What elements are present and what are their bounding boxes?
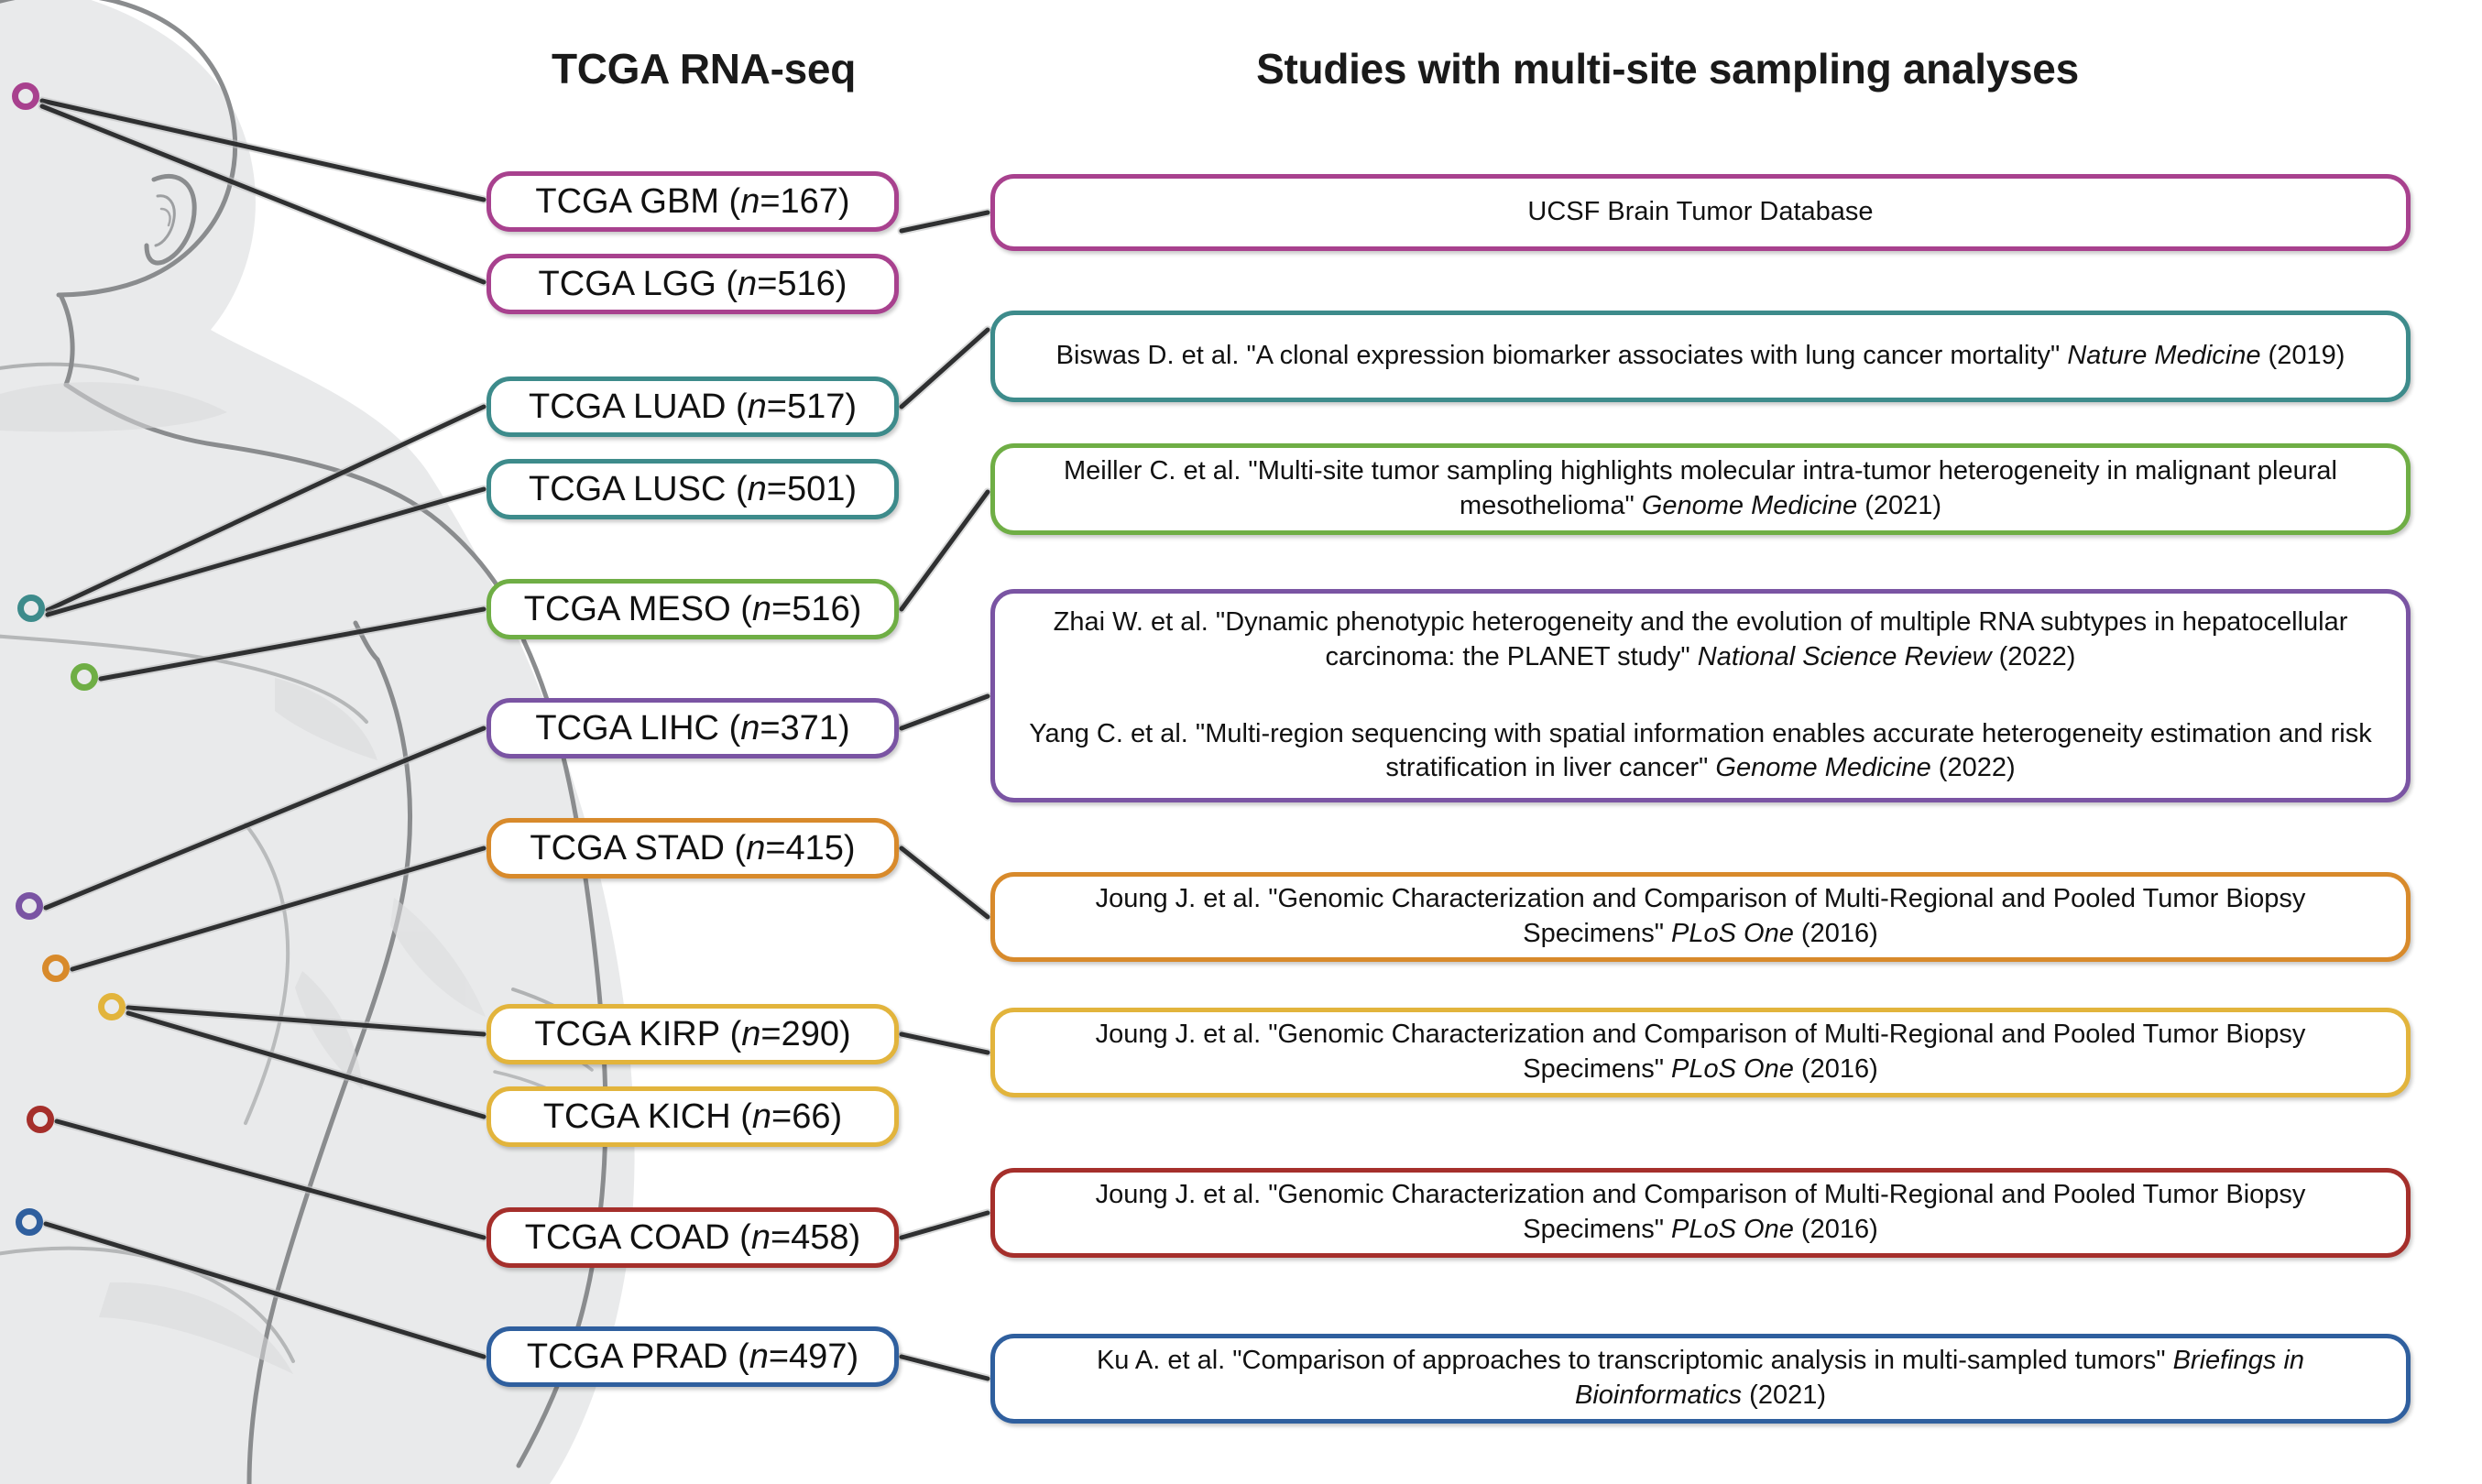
prostate-site-marker — [16, 1208, 43, 1236]
study-box-joung-stad[interactable]: Joung J. et al. "Genomic Characterizatio… — [990, 872, 2411, 962]
tcga-cohort-sample-count: (n=66) — [740, 1097, 842, 1137]
brain-site-marker — [12, 82, 39, 110]
study-citation: Yang C. et al. "Multi-region sequencing … — [1022, 717, 2378, 786]
tcga-cohort-label: TCGA GBM — [535, 182, 719, 222]
study-year: (2021) — [1857, 491, 1941, 520]
connector-line-halo — [46, 728, 484, 908]
connector-line-liver-to-lihc — [46, 728, 484, 908]
connector-line-halo — [46, 1224, 484, 1357]
tcga-cohort-box-luad[interactable]: TCGA LUAD (n=517) — [487, 376, 899, 437]
study-box-biswas-lung[interactable]: Biswas D. et al. "A clonal expression bi… — [990, 311, 2411, 402]
tcga-cohort-label: TCGA LUSC — [529, 470, 726, 509]
study-journal-name: Genome Medicine — [1715, 753, 1930, 782]
connector-line-brain-to-lgg — [42, 106, 484, 282]
tcga-cohort-box-kich[interactable]: TCGA KICH (n=66) — [487, 1086, 899, 1147]
tcga-cohort-label: TCGA LUAD — [529, 387, 726, 427]
study-box-lihc-studies[interactable]: Zhai W. et al. "Dynamic phenotypic heter… — [990, 589, 2411, 802]
connector-line-halo — [128, 1008, 484, 1034]
connector-line-meso-to-meiller — [902, 492, 988, 609]
connector-line-halo — [48, 407, 484, 610]
connector-line-halo — [902, 848, 988, 917]
tcga-cohort-box-coad[interactable]: TCGA COAD (n=458) — [487, 1207, 899, 1268]
connector-line-lung-to-luad — [48, 407, 484, 610]
tcga-cohort-sample-count: (n=516) — [726, 265, 847, 304]
connector-line-halo — [128, 1013, 484, 1117]
study-citation-text: Yang C. et al. "Multi-region sequencing … — [1029, 719, 2371, 783]
connector-line-gbm-to-ucsf — [902, 213, 988, 231]
study-year: (2016) — [1794, 1054, 1878, 1084]
connector-line-halo — [902, 1357, 988, 1379]
connector-line-kidney-to-kich — [128, 1013, 484, 1117]
study-year: (2019) — [2260, 341, 2345, 370]
study-citation: UCSF Brain Tumor Database — [1527, 195, 1873, 230]
connector-line-lung-to-lusc — [48, 489, 484, 615]
connector-line-prostate-to-prad — [46, 1224, 484, 1357]
connector-line-stomach-to-stad — [72, 848, 484, 969]
study-box-meiller-meso[interactable]: Meiller C. et al. "Multi-site tumor samp… — [990, 443, 2411, 535]
study-citation: Zhai W. et al. "Dynamic phenotypic heter… — [1022, 606, 2378, 674]
connector-line-halo — [902, 213, 988, 231]
tcga-cohort-label: TCGA PRAD — [527, 1337, 728, 1377]
tcga-cohort-sample-count: (n=371) — [729, 709, 850, 748]
pleura-site-marker — [71, 663, 98, 691]
connector-line-halo — [902, 1034, 988, 1053]
tcga-cohort-label: TCGA MESO — [524, 590, 731, 629]
study-citation: Joung J. et al. "Genomic Characterizatio… — [1022, 882, 2378, 951]
tcga-cohort-sample-count: (n=516) — [740, 590, 861, 629]
connector-line-halo — [902, 492, 988, 609]
page-title-tcga-rnaseq: TCGA RNA-seq — [497, 44, 910, 93]
connector-line-halo — [902, 330, 988, 407]
tcga-cohort-sample-count: (n=415) — [735, 829, 856, 868]
study-year: (2022) — [1992, 642, 2076, 671]
tcga-cohort-label: TCGA LGG — [539, 265, 716, 304]
connector-line-brain-to-gbm — [42, 101, 484, 200]
colon-site-marker — [27, 1106, 54, 1133]
study-journal-name: PLoS One — [1671, 919, 1794, 948]
tcga-cohort-sample-count: (n=458) — [739, 1218, 860, 1258]
page-title-studies: Studies with multi-site sampling analyse… — [1196, 44, 2139, 93]
tcga-cohort-box-lusc[interactable]: TCGA LUSC (n=501) — [487, 459, 899, 519]
connector-line-halo — [902, 696, 988, 728]
study-year: (2021) — [1742, 1380, 1826, 1410]
tcga-cohort-label: TCGA LIHC — [535, 709, 719, 748]
tcga-cohort-label: TCGA KICH — [543, 1097, 731, 1137]
study-citation: Ku A. et al. "Comparison of approaches t… — [1022, 1344, 2378, 1413]
connector-line-coad-to-joung — [902, 1213, 988, 1238]
tcga-cohort-label: TCGA COAD — [525, 1218, 730, 1258]
study-citation-text: Biswas D. et al. "A clonal expression bi… — [1056, 341, 2068, 370]
study-journal-name: PLoS One — [1671, 1215, 1794, 1244]
tcga-cohort-box-lihc[interactable]: TCGA LIHC (n=371) — [487, 698, 899, 758]
study-citation-text: Ku A. et al. "Comparison of approaches t… — [1097, 1346, 2173, 1375]
connector-line-kidney-to-kirp — [128, 1008, 484, 1034]
connector-line-halo — [902, 1213, 988, 1238]
study-citation: Biswas D. et al. "A clonal expression bi… — [1056, 339, 2345, 374]
tcga-multisite-figure: TCGA RNA-seq Studies with multi-site sam… — [0, 0, 2482, 1484]
study-citation: Joung J. et al. "Genomic Characterizatio… — [1022, 1178, 2378, 1247]
study-citation: Meiller C. et al. "Multi-site tumor samp… — [1022, 454, 2378, 523]
study-journal-name: Genome Medicine — [1642, 491, 1857, 520]
kidney-site-marker — [98, 993, 126, 1020]
tcga-cohort-box-meso[interactable]: TCGA MESO (n=516) — [487, 579, 899, 639]
study-box-ku-prad[interactable]: Ku A. et al. "Comparison of approaches t… — [990, 1334, 2411, 1424]
study-box-joung-kidney[interactable]: Joung J. et al. "Genomic Characterizatio… — [990, 1008, 2411, 1097]
study-year: (2016) — [1794, 1215, 1878, 1244]
connector-line-luad-to-biswas — [902, 330, 988, 407]
connector-line-halo — [42, 106, 484, 282]
connector-line-colon-to-coad — [57, 1121, 484, 1238]
tcga-cohort-sample-count: (n=497) — [738, 1337, 858, 1377]
study-citation-text: UCSF Brain Tumor Database — [1527, 197, 1873, 226]
connector-line-stad-to-joung — [902, 848, 988, 917]
connector-line-halo — [57, 1121, 484, 1238]
tcga-cohort-label: TCGA KIRP — [534, 1015, 720, 1054]
tcga-cohort-box-kirp[interactable]: TCGA KIRP (n=290) — [487, 1004, 899, 1064]
study-year: (2022) — [1931, 753, 2016, 782]
tcga-cohort-sample-count: (n=290) — [730, 1015, 851, 1054]
tcga-cohort-sample-count: (n=167) — [729, 182, 850, 222]
study-box-joung-coad[interactable]: Joung J. et al. "Genomic Characterizatio… — [990, 1168, 2411, 1258]
tcga-cohort-sample-count: (n=501) — [736, 470, 857, 509]
body-soft-shading — [0, 382, 486, 1374]
study-journal-name: National Science Review — [1698, 642, 1992, 671]
tcga-cohort-box-prad[interactable]: TCGA PRAD (n=497) — [487, 1326, 899, 1387]
connector-line-pleura-to-meso — [101, 609, 484, 679]
lung-site-marker — [17, 595, 45, 622]
study-year: (2016) — [1794, 919, 1878, 948]
tcga-cohort-sample-count: (n=517) — [736, 387, 857, 427]
connector-line-halo — [48, 489, 484, 615]
connector-line-prad-to-ku — [902, 1357, 988, 1379]
study-journal-name: Nature Medicine — [2067, 341, 2260, 370]
tcga-cohort-box-lgg[interactable]: TCGA LGG (n=516) — [487, 254, 899, 314]
study-journal-name: PLoS One — [1671, 1054, 1794, 1084]
study-box-ucsf-brain[interactable]: UCSF Brain Tumor Database — [990, 174, 2411, 251]
stomach-site-marker — [42, 955, 70, 982]
connector-line-halo — [101, 609, 484, 679]
connector-line-halo — [42, 101, 484, 200]
tcga-cohort-box-stad[interactable]: TCGA STAD (n=415) — [487, 818, 899, 878]
connector-line-kirp-to-joung — [902, 1034, 988, 1053]
liver-site-marker — [16, 892, 43, 920]
connector-line-halo — [72, 848, 484, 969]
tcga-cohort-box-gbm[interactable]: TCGA GBM (n=167) — [487, 171, 899, 232]
tcga-cohort-label: TCGA STAD — [530, 829, 725, 868]
connector-line-lihc-to-studies — [902, 696, 988, 728]
study-citation: Joung J. et al. "Genomic Characterizatio… — [1022, 1018, 2378, 1086]
